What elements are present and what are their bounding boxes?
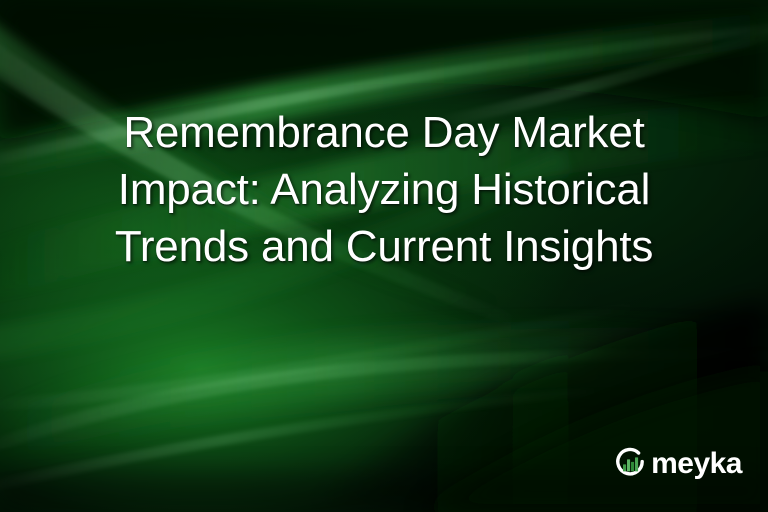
meyka-logo[interactable]: meyka <box>613 446 742 480</box>
title-line-3: Trends and Current Insights <box>28 218 740 275</box>
meyka-ring-barchart-icon <box>613 446 647 480</box>
banner-graphic: Remembrance Day Market Impact: Analyzing… <box>0 0 768 512</box>
title-line-2: Impact: Analyzing Historical <box>28 161 740 218</box>
meyka-wordmark: meyka <box>651 449 742 479</box>
page-title: Remembrance Day Market Impact: Analyzing… <box>0 104 768 275</box>
title-line-1: Remembrance Day Market <box>28 104 740 161</box>
